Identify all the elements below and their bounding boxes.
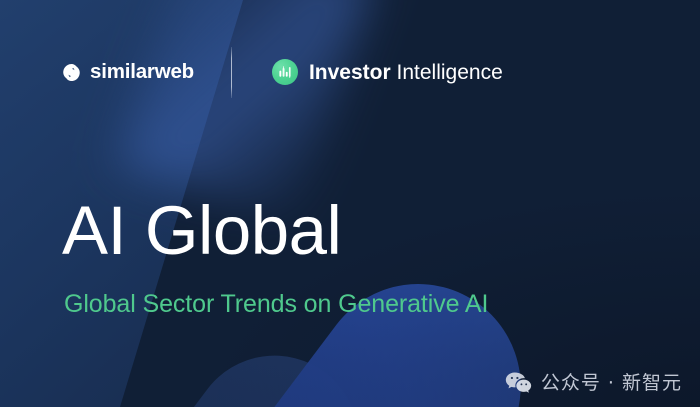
logo-bar: similarweb Investor Intelligence	[62, 52, 503, 92]
similarweb-logo[interactable]: similarweb	[62, 62, 194, 83]
page-subtitle: Global Sector Trends on Generative AI	[64, 292, 488, 317]
logo-divider	[231, 47, 232, 98]
watermark-text: 公众号 · 新智元	[541, 374, 682, 393]
title-slide: similarweb Investor Intelligence AI Glob…	[0, 0, 700, 407]
investor-intelligence-wordmark: Investor Intelligence	[309, 62, 503, 83]
investor-intelligence-logo[interactable]: Investor Intelligence	[272, 59, 503, 85]
product-name-bold: Investor	[309, 61, 391, 84]
wechat-watermark: 公众号 · 新智元	[505, 371, 682, 395]
wechat-icon	[505, 371, 532, 395]
similarweb-swirl-icon	[62, 63, 81, 82]
similarweb-wordmark: similarweb	[90, 62, 194, 83]
product-name-light: Intelligence	[397, 61, 503, 84]
bar-chart-icon	[272, 59, 298, 85]
page-title: AI Global	[62, 196, 341, 265]
